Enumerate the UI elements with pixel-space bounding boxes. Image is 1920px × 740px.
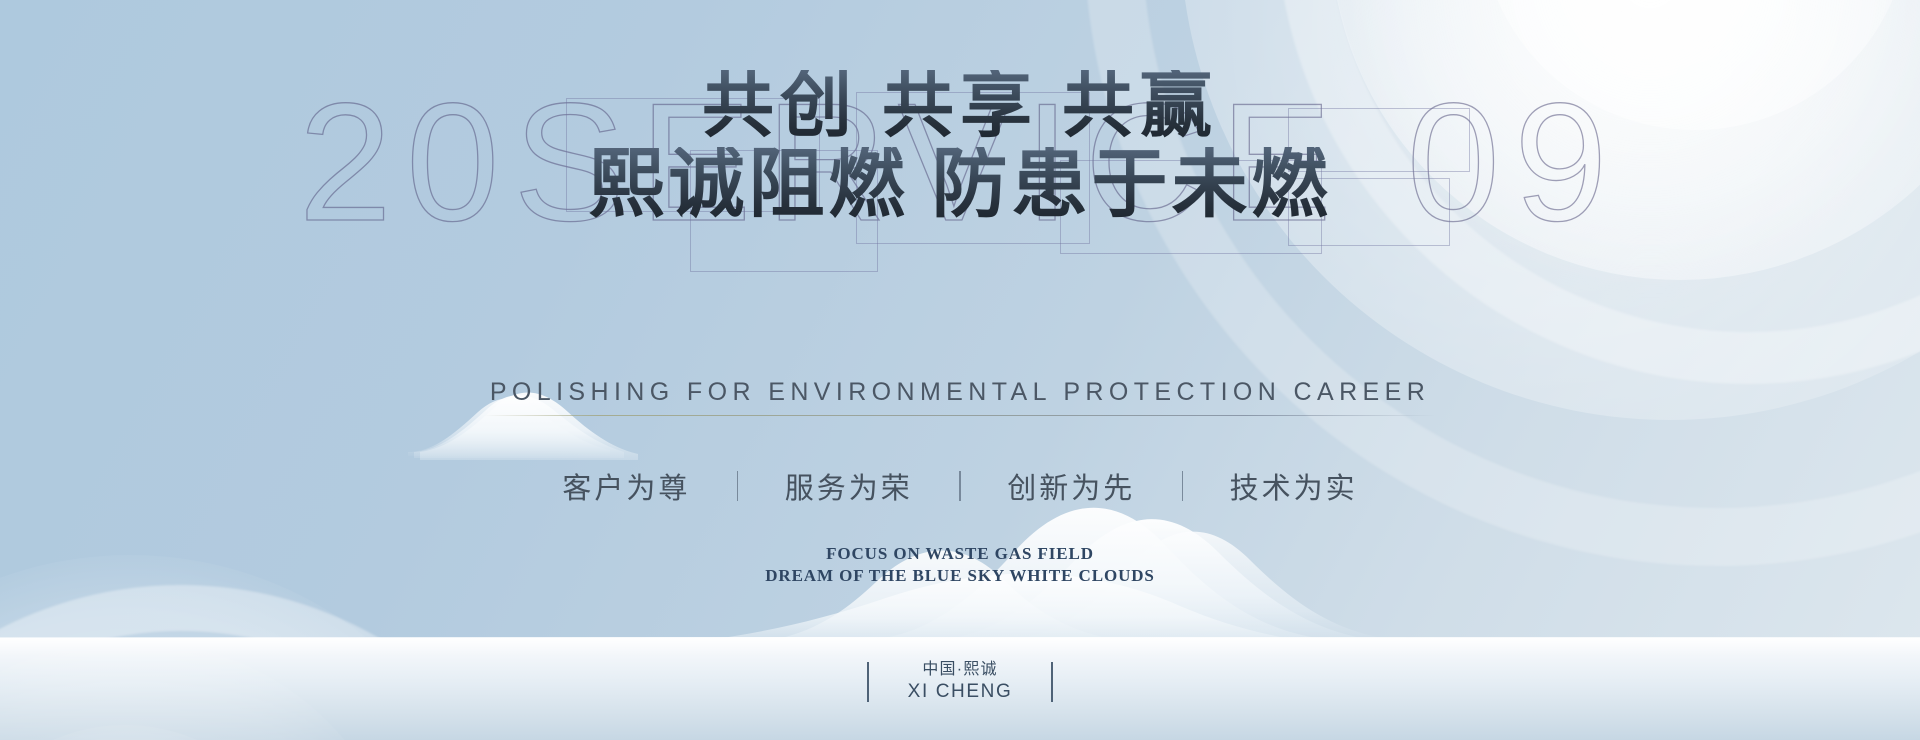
brand-bar-left <box>867 662 869 702</box>
tagline-line-2: DREAM OF THE BLUE SKY WHITE CLOUDS <box>0 565 1920 587</box>
english-subtitle-wrap: POLISHING FOR ENVIRONMENTAL PROTECTION C… <box>0 378 1920 416</box>
brand-text: 中国·熙诚 XI CHENG <box>908 660 1013 705</box>
brand-bar-right <box>1051 662 1053 702</box>
value-item-4: 技术为实 <box>1230 465 1358 507</box>
brand-mark: 中国·熙诚 XI CHENG <box>0 660 1920 705</box>
value-separator-2 <box>959 471 961 501</box>
banner-stage: 20SERVICE 09 共创 共享 共赢 熙诚阻燃 防患于未燃 <box>0 0 1920 740</box>
headline-line-1: 共创 共享 共赢 <box>0 70 1920 143</box>
tagline-line-1: FOCUS ON WASTE GAS FIELD <box>0 543 1920 565</box>
value-separator-1 <box>737 471 739 501</box>
value-item-2: 服务为荣 <box>785 465 913 507</box>
values-row: 客户为尊 服务为荣 创新为先 技术为实 <box>0 465 1920 507</box>
value-separator-3 <box>1182 471 1184 501</box>
headline-line-2: 熙诚阻燃 防患于未燃 <box>0 147 1920 225</box>
value-item-3: 创新为先 <box>1007 465 1135 507</box>
brand-name-en: XI CHENG <box>908 680 1013 704</box>
value-item-1: 客户为尊 <box>562 465 690 507</box>
english-subtitle: POLISHING FOR ENVIRONMENTAL PROTECTION C… <box>490 378 1430 416</box>
tagline-block: FOCUS ON WASTE GAS FIELD DREAM OF THE BL… <box>0 543 1920 588</box>
brand-name-cn: 中国·熙诚 <box>908 660 1013 680</box>
headline-block: 共创 共享 共赢 熙诚阻燃 防患于未燃 <box>0 70 1920 225</box>
